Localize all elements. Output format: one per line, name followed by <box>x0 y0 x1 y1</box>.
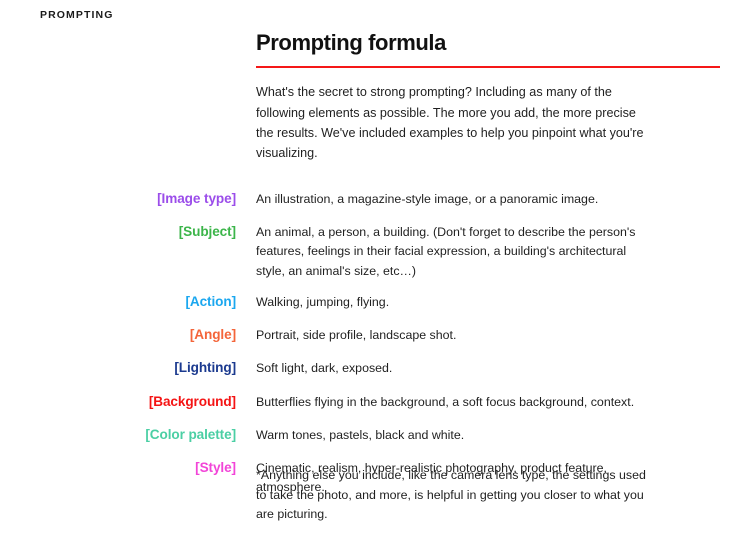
list-item: [Angle] Portrait, side profile, landscap… <box>0 326 750 345</box>
list-item: [Action] Walking, jumping, flying. <box>0 293 750 312</box>
header-block: Prompting formula What's the secret to s… <box>256 0 722 164</box>
kicker-label: PROMPTING <box>40 9 114 21</box>
element-description: An animal, a person, a building. (Don't … <box>236 223 650 281</box>
element-label: [Lighting] <box>0 359 236 378</box>
element-description: Butterflies flying in the background, a … <box>236 393 650 412</box>
element-label: [Action] <box>0 293 236 312</box>
list-item: [Background] Butterflies flying in the b… <box>0 393 750 412</box>
list-item: [Color palette] Warm tones, pastels, bla… <box>0 426 750 445</box>
element-description: Warm tones, pastels, black and white. <box>236 426 650 445</box>
intro-paragraph: What's the secret to strong prompting? I… <box>256 68 654 164</box>
page-title: Prompting formula <box>256 0 722 55</box>
element-description: An illustration, a magazine-style image,… <box>236 190 650 209</box>
element-label: [Background] <box>0 393 236 412</box>
element-description: Portrait, side profile, landscape shot. <box>236 326 650 345</box>
list-item: [Subject] An animal, a person, a buildin… <box>0 223 750 281</box>
element-description: Soft light, dark, exposed. <box>236 359 650 378</box>
list-item: [Image type] An illustration, a magazine… <box>0 190 750 209</box>
element-label: [Subject] <box>0 223 236 242</box>
element-label: [Image type] <box>0 190 236 209</box>
element-label: [Color palette] <box>0 426 236 445</box>
footnote-text: *Anything else you include, like the cam… <box>256 466 648 525</box>
element-label: [Style] <box>0 459 236 478</box>
list-item: [Lighting] Soft light, dark, exposed. <box>0 359 750 378</box>
element-description: Walking, jumping, flying. <box>236 293 650 312</box>
element-label: [Angle] <box>0 326 236 345</box>
prompt-element-list: [Image type] An illustration, a magazine… <box>0 190 750 511</box>
